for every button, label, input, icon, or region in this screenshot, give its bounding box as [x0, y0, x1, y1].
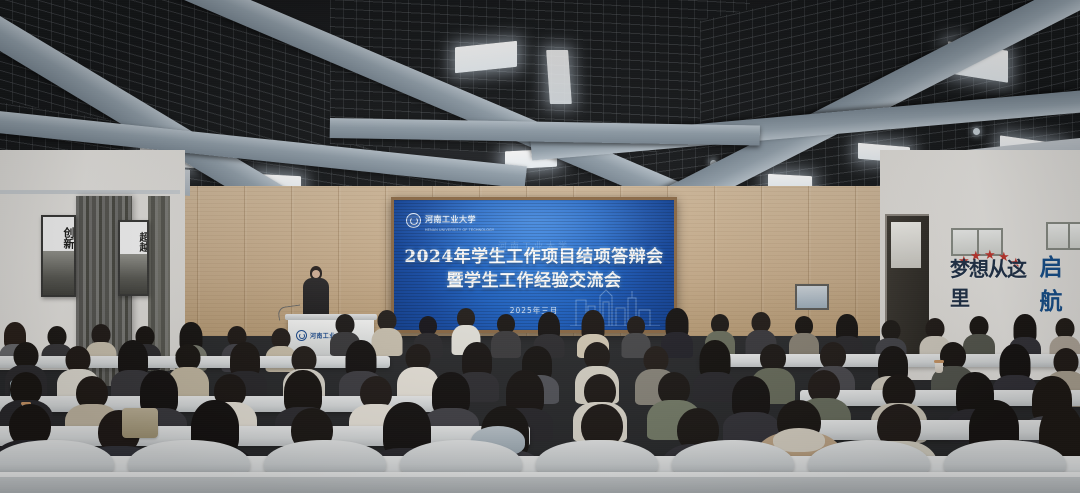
- frame-artwork: [43, 251, 74, 295]
- seat-back: [536, 440, 658, 474]
- door-window: [891, 222, 921, 268]
- audience-area: ✦✦✦: [0, 300, 1080, 493]
- calligraphy-frame: 超越: [118, 220, 149, 296]
- ceiling-panel-light: [546, 50, 572, 104]
- screen-title-line-1: 2024年学生工作项目结项答辩会: [394, 246, 674, 269]
- speaker-face: [312, 270, 320, 278]
- calligraphy-text: 创新: [43, 221, 74, 255]
- window-mullion: [1068, 224, 1070, 248]
- floor: [0, 477, 1080, 493]
- screen-university-logo: 河南工业大学 HENAN UNIVERSITY OF TECHNOLOGY: [406, 209, 494, 232]
- conference-hall-photo: 创新 超越 ★ ★ ★ ★ ★ 梦想从这里 启航 河南工业大学: [0, 0, 1080, 493]
- frame-artwork: [120, 254, 147, 294]
- coffee-cup: [935, 362, 943, 373]
- clerestory-window: [1046, 222, 1080, 250]
- wall-slogan: 梦想从这里 启航: [950, 262, 1080, 302]
- ceiling-spotlight: [973, 128, 980, 135]
- university-name: 河南工业大学: [425, 214, 476, 224]
- university-emblem-icon: [406, 213, 421, 228]
- left-wall-trim: [0, 190, 180, 194]
- logo-text-block: 河南工业大学 HENAN UNIVERSITY OF TECHNOLOGY: [425, 209, 494, 232]
- tote-bag: [122, 408, 158, 438]
- university-name-english: HENAN UNIVERSITY OF TECHNOLOGY: [425, 228, 494, 232]
- calligraphy-frame: 创新: [41, 215, 76, 297]
